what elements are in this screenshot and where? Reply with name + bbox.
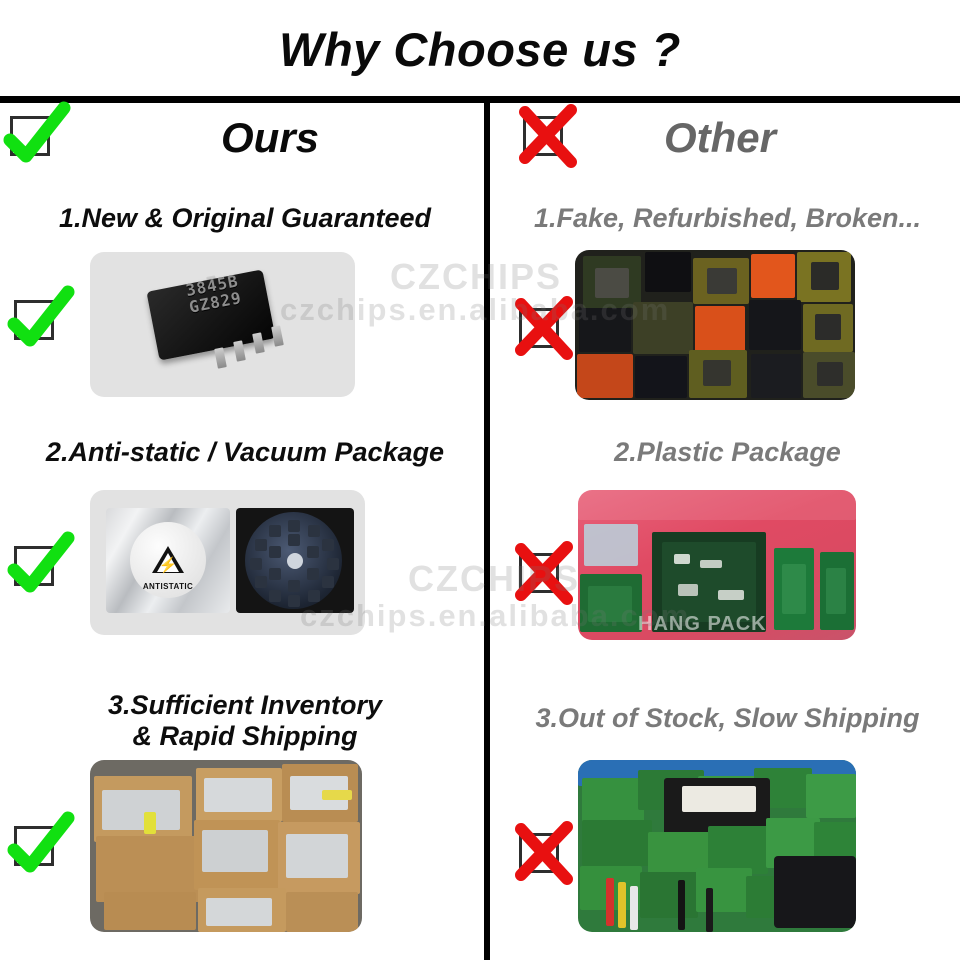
row-1-ours-photo: 3845B GZ829 [90,252,355,397]
row-3-ours-label: 3.Sufficient Inventory & Rapid Shipping [20,690,470,753]
row-2-other-photo: HANG PACK [578,490,856,640]
row-2-other-label: 2.Plastic Package [500,437,955,468]
antistatic-bag: ⚡ ANTISTATIC [106,508,230,613]
scrap-pcbs-mosaic [578,760,856,932]
page-title: Why Choose us ? [0,22,960,77]
cross-mark-icon-row-2 [513,545,567,599]
plastic-pack-watermark: HANG PACK [638,613,767,636]
row-2-ours-photo: ⚡ ANTISTATIC [90,490,365,635]
column-header-other: Other [500,107,940,169]
header-divider [0,96,960,103]
check-mark-icon-header [4,108,58,162]
row-1-other-label: 1.Fake, Refurbished, Broken... [500,203,955,234]
cartons-mosaic [90,760,362,932]
column-header-ours: Ours [60,107,480,169]
column-divider [484,100,490,960]
row-1-ours-label: 1.New & Original Guaranteed [20,203,470,234]
antistatic-text: ANTISTATIC [130,582,206,591]
cross-mark-icon-row-1 [513,300,567,354]
check-mark-icon-row-2 [8,538,62,592]
row-3-other-photo [578,760,856,932]
row-3-other-label: 3.Out of Stock, Slow Shipping [495,703,960,734]
tape-reel [236,508,354,613]
antistatic-label-disc: ⚡ ANTISTATIC [130,522,206,598]
scrap-chips-mosaic [575,250,855,400]
check-mark-icon-row-1 [8,292,62,346]
row-2-ours-label: 2.Anti-static / Vacuum Package [10,437,480,468]
check-mark-icon-row-3 [8,818,62,872]
row-3-ours-photo [90,760,362,932]
row-1-other-photo [575,250,855,400]
cross-mark-icon-row-3 [513,825,567,879]
